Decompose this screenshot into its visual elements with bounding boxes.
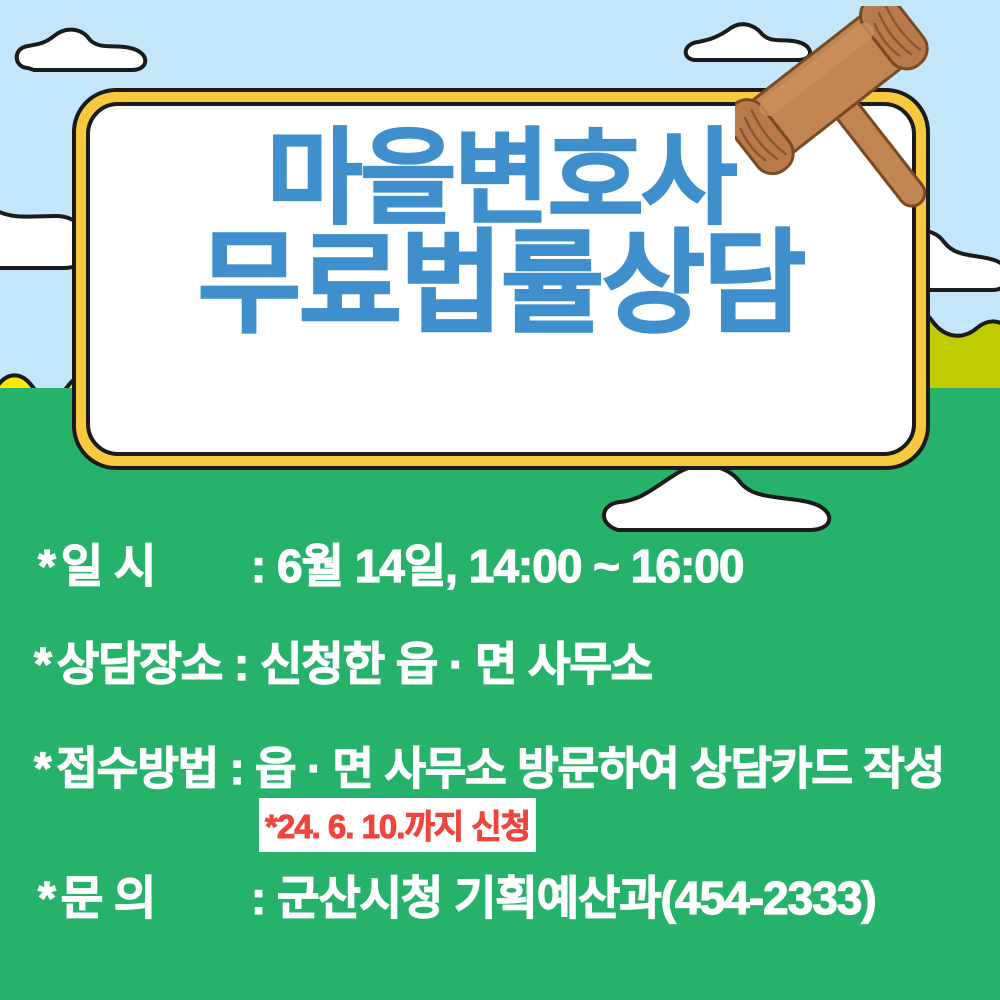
detail-label-method: 접수방법 <box>57 732 219 797</box>
detail-separator-place: : <box>234 638 248 690</box>
detail-separator-date: : <box>251 540 265 592</box>
detail-value-place: 신청한 읍 · 면 사무소 <box>260 638 652 690</box>
detail-value-contact: 군산시청 기획예산과(454-2333) <box>277 872 876 924</box>
detail-value-date: 6월 14일, 14:00 ~ 16:00 <box>277 540 743 592</box>
detail-value-method: 읍 · 면 사무소 방문하여 상담카드 작성 <box>255 743 944 794</box>
title-line-2: 무료법률상담 <box>90 230 912 338</box>
bullet-star-method: * <box>34 743 51 795</box>
bullet-star-date: * <box>38 539 55 593</box>
detail-label-contact: 문 의 <box>61 862 251 928</box>
detail-line-contact: *문 의: 군산시청 기획예산과(454-2333) <box>38 862 876 928</box>
detail-label-place: 상담장소 <box>57 628 222 694</box>
detail-line-date: *일 시: 6월 14일, 14:00 ~ 16:00 <box>38 530 743 596</box>
cloud-top-left <box>10 20 160 75</box>
detail-line-method: *접수방법 : 읍 · 면 사무소 방문하여 상담카드 작성 <box>34 732 944 797</box>
deadline-note: *24. 6. 10.까지 신청 <box>259 798 536 852</box>
detail-separator-method: : <box>230 743 244 794</box>
gavel-icon <box>735 6 970 241</box>
detail-label-date: 일 시 <box>61 530 251 596</box>
bullet-star-contact: * <box>38 871 55 925</box>
detail-separator-contact: : <box>251 872 265 924</box>
detail-line-place: *상담장소 : 신청한 읍 · 면 사무소 <box>34 628 652 694</box>
poster-canvas: 마을변호사 무료법률상담 <box>0 0 1000 1000</box>
bullet-star-place: * <box>34 637 51 691</box>
